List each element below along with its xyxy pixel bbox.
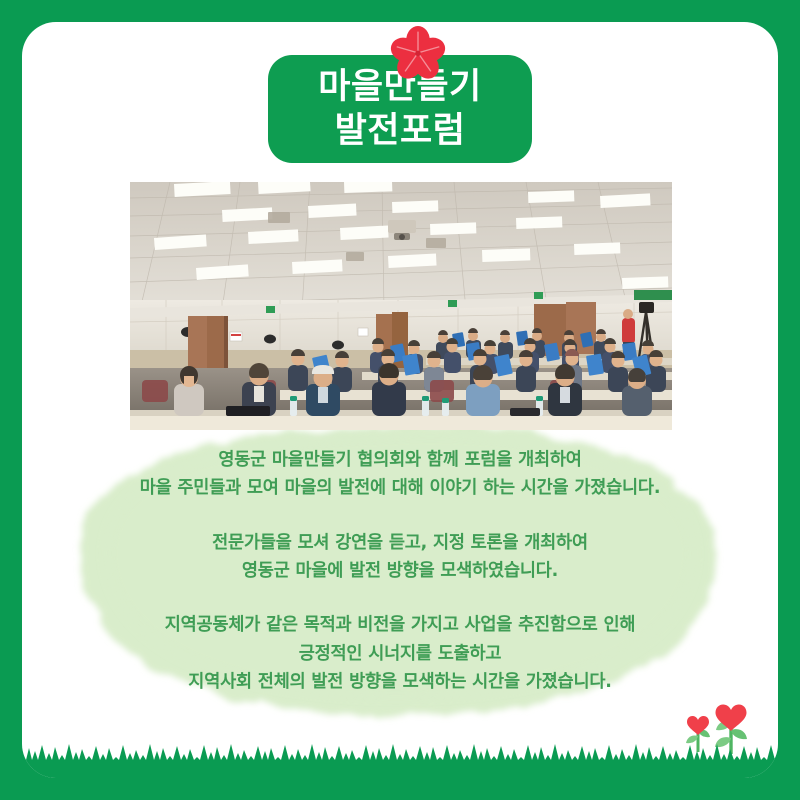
paragraph-1: 영동군 마을만들기 협의회와 함께 포럼을 개최하여 마을 주민들과 모여 마을… (22, 446, 778, 503)
paragraph-2-line-1: 전문가들을 모셔 강연을 듣고, 지정 토론을 개최하여 (22, 529, 778, 557)
promo-card: 마을만들기 발전포럼 (0, 0, 800, 800)
paragraph-3: 지역공동체가 같은 목적과 비전을 가지고 사업을 추진함으로 인해 긍정적인 … (22, 611, 778, 696)
paragraph-2: 전문가들을 모셔 강연을 듣고, 지정 토론을 개최하여 영동군 마을에 발전 … (22, 529, 778, 586)
page-inner: 마을만들기 발전포럼 (22, 22, 778, 778)
paragraph-2-line-2: 영동군 마을에 발전 방향을 모색하였습니다. (22, 557, 778, 585)
paragraph-3-line-3: 지역사회 전체의 발전 방향을 모색하는 시간을 가졌습니다. (22, 668, 778, 696)
paragraph-3-line-2: 긍정적인 시너지를 도출하고 (22, 640, 778, 668)
paragraph-1-line-2: 마을 주민들과 모여 마을의 발전에 대해 이야기 하는 시간을 가졌습니다. (22, 474, 778, 502)
grass-border-icon (22, 742, 778, 778)
title-line-2: 발전포럼 (335, 109, 466, 153)
paragraph-3-line-1: 지역공동체가 같은 목적과 비전을 가지고 사업을 추진함으로 인해 (22, 611, 778, 639)
lecture-hall-audience-photo (130, 182, 672, 430)
body-copy: 영동군 마을만들기 협의회와 함께 포럼을 개최하여 마을 주민들과 모여 마을… (22, 446, 778, 696)
paragraph-1-line-1: 영동군 마을만들기 협의회와 함께 포럼을 개최하여 (22, 446, 778, 474)
red-blossom-flower-icon (390, 26, 446, 82)
